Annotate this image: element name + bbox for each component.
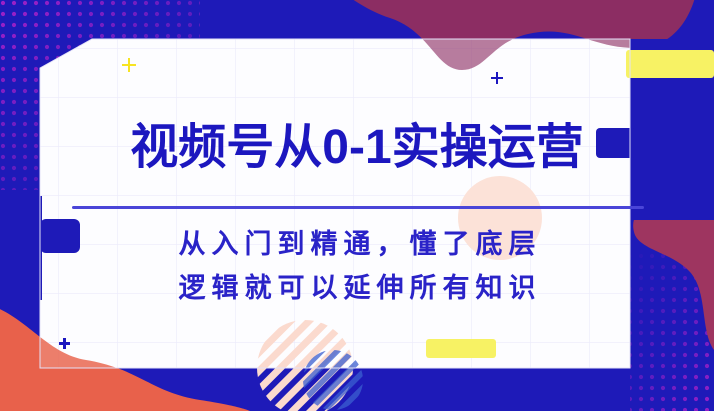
plus-icon-blue-lower xyxy=(59,338,70,349)
peach-circle xyxy=(458,176,542,260)
plus-icon-blue xyxy=(491,72,503,84)
yellow-bar-bottom xyxy=(426,339,496,358)
poster-canvas: 视频号从0-1实操运营 从入门到精通，懂了底层 逻辑就可以延伸所有知识 xyxy=(0,0,714,411)
yellow-bar-top-right xyxy=(626,50,714,78)
plus-icon-yellow xyxy=(122,58,136,72)
white-card xyxy=(40,39,630,368)
poster-graphics xyxy=(0,0,714,411)
